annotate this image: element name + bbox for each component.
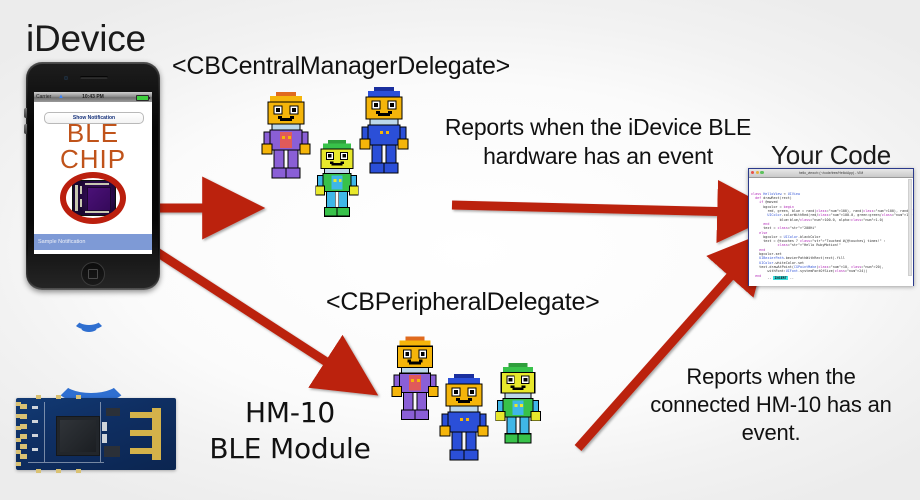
bluetooth-wave-icon-phone [72,308,106,330]
volume-down-button[interactable] [24,124,27,134]
label-hm10-line1: HM-10 [200,395,380,431]
label-cbcentralmanagerdelegate: <CBCentralManagerDelegate> [172,52,510,81]
code-scrollbar[interactable] [908,179,913,276]
hm10-smd-7 [102,422,107,431]
hm10-smd-5 [32,434,38,437]
status-time-label: 10:43 PM [34,94,152,100]
hm10-smd-4 [32,420,38,423]
battery-icon [136,95,149,101]
label-cbperipheraldelegate: <CBPeripheralDelegate> [326,288,600,317]
diagram-canvas: iDevice Your Code <CBCentralManagerDeleg… [0,0,920,500]
robot-green-central [312,140,362,218]
hm10-pad-4 [20,434,27,439]
code-lines: class HelloView < UIView def drawRect(re… [751,192,911,278]
hm10-main-chip [56,416,100,456]
hm10-smd-8 [102,434,107,443]
hm10-pad-3 [20,424,27,429]
hm10-smd-2 [104,446,120,457]
arrow-phone-to-peripheral [146,245,342,372]
hm10-pad-5 [20,444,27,449]
caption-peripheral-events: Reports when the connected HM-10 has an … [640,363,902,447]
code-editor-window[interactable]: hello_view.rb (~/code/tree/HelloiApp) - … [748,168,914,286]
hm10-smd-3 [32,406,38,409]
code-window-title: hello_view.rb (~/code/tree/HelloiApp) - … [799,171,863,175]
sample-notification-banner[interactable]: Sample Notification [34,234,152,250]
editor-status-line: -- INSERT -- [751,272,794,285]
window-controls[interactable] [751,171,764,174]
page-title-your-code: Your Code [742,140,920,171]
hm10-pcb-icon [16,398,176,470]
front-camera-icon [64,76,68,80]
editor-mode-badge: INSERT [773,276,787,280]
hm10-smd-6 [32,448,38,451]
code-editor-body[interactable]: class HelloView < UIView def drawRect(re… [749,178,913,286]
red-circle-highlight [60,172,126,224]
robot-green-peripheral [492,362,544,446]
hm10-smd-1 [106,408,120,416]
code-window-titlebar: hello_view.rb (~/code/tree/HelloiApp) - … [749,169,913,178]
robot-blue-central [356,86,412,176]
page-title-idevice: iDevice [26,18,146,60]
hm10-pad-2 [20,414,27,419]
home-button[interactable] [81,262,105,286]
hm10-pad-6 [20,454,27,459]
label-hm10-line2: BLE Module [200,431,380,467]
robot-purple-central [258,92,314,180]
arrow-central-to-code [452,205,737,212]
hm10-trace-3 [28,462,104,463]
robot-blue-peripheral [436,374,492,462]
hm10-trace-2 [100,402,101,462]
hm10-trace-1 [44,402,45,462]
status-bar: Carrier ▲ 10:43 PM [34,92,152,102]
robot-purple-peripheral [388,336,442,422]
label-hm10-ble-module: HM-10 BLE Module [200,395,380,467]
earpiece-speaker [80,76,108,79]
caption-central-events: Reports when the iDevice BLE hardware ha… [443,113,753,171]
phone-screen: Carrier ▲ 10:43 PM Show Notification BLE… [34,92,152,254]
iphone-device: Carrier ▲ 10:43 PM Show Notification BLE… [26,62,160,290]
hm10-antenna-trace [130,408,168,460]
hm10-pad-1 [20,404,27,409]
screen-word-chip: CHIP [34,144,152,175]
volume-up-button[interactable] [24,108,27,118]
